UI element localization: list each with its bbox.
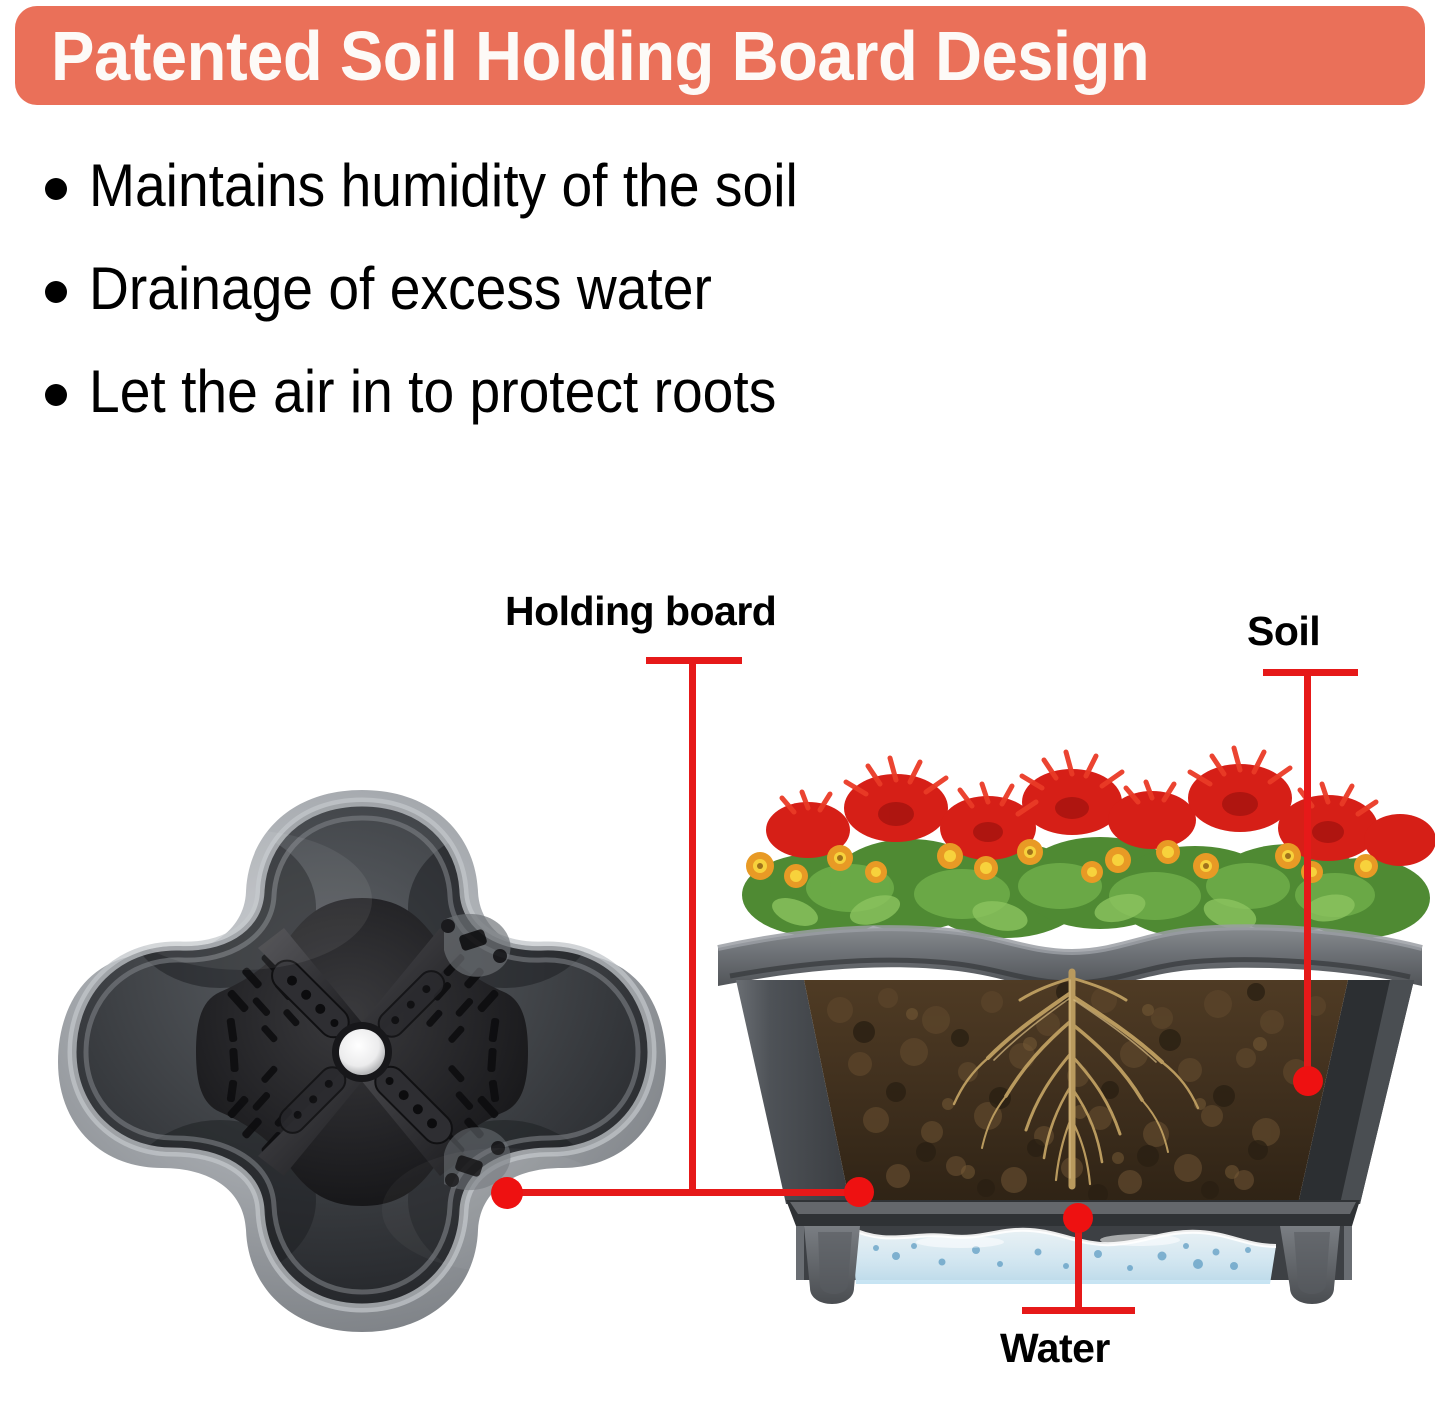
page-title: Patented Soil Holding Board Design <box>51 16 1149 96</box>
leader-vertical-holding-board <box>689 657 696 1192</box>
planter-shell <box>58 790 666 1332</box>
feature-text: Drainage of excess water <box>89 255 712 323</box>
title-banner: Patented Soil Holding Board Design <box>15 6 1425 105</box>
leader-horizontal-holding-board <box>505 1189 860 1196</box>
callout-label-soil: Soil <box>1247 608 1320 655</box>
drainage-hole <box>332 1022 392 1082</box>
callout-label-holding-board: Holding board <box>505 588 776 635</box>
leader-tbar-water <box>1022 1307 1135 1314</box>
feature-text: Maintains humidity of the soil <box>89 152 798 220</box>
feature-text: Let the air in to protect roots <box>89 358 776 426</box>
list-item: Let the air in to protect roots <box>45 358 1145 461</box>
list-item: Drainage of excess water <box>45 255 1145 358</box>
bullet-point-icon <box>45 178 67 200</box>
planter-cross-section-photo <box>700 680 1435 1410</box>
chrysanthemum-flowers <box>742 748 1435 938</box>
callout-label-water: Water <box>1000 1325 1110 1372</box>
water-reservoir <box>850 1228 1276 1284</box>
feature-list: Maintains humidity of the soil Drainage … <box>45 152 1145 461</box>
leader-vertical-soil <box>1304 669 1311 1081</box>
holding-board-top-view-photo <box>52 740 672 1365</box>
marker-dot-soil <box>1293 1066 1323 1096</box>
list-item: Maintains humidity of the soil <box>45 152 1145 255</box>
bullet-point-icon <box>45 384 67 406</box>
product-diagram: Holding board Soil Water <box>0 540 1435 1375</box>
marker-dot-water <box>1063 1203 1093 1233</box>
marker-dot-holding-board-left <box>491 1177 523 1209</box>
bullet-point-icon <box>45 281 67 303</box>
marker-dot-holding-board-right <box>844 1177 874 1207</box>
